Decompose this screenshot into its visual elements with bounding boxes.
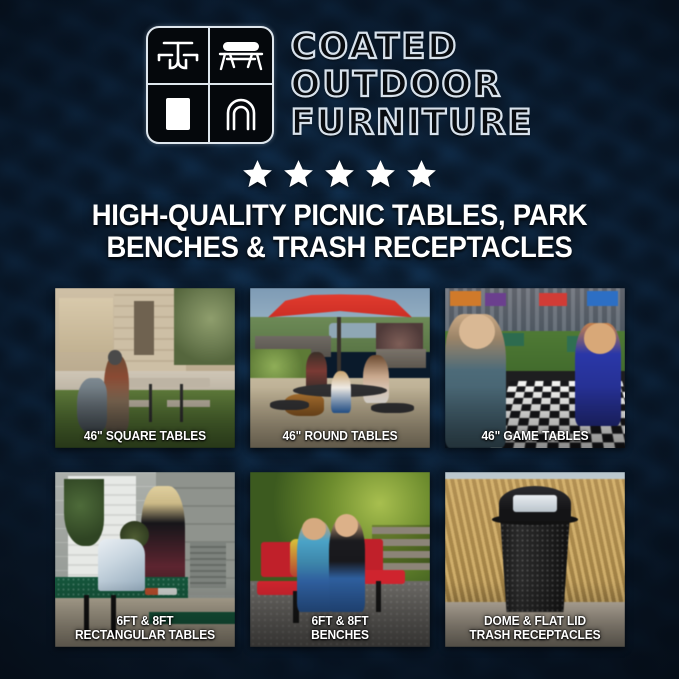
brand-word-outdoor: OUTDOOR [291, 68, 503, 104]
picnic-table-icon [148, 28, 210, 85]
gallery-caption: DOME & FLAT LID TRASH RECEPTACLES [450, 614, 621, 642]
gallery-caption: 46" GAME TABLES [450, 429, 621, 443]
gallery-tile-benches[interactable]: 6FT & 8FT BENCHES [250, 472, 430, 647]
headline-line-1: HIGH-QUALITY PICNIC TABLES, PARK [24, 200, 655, 232]
headline-line-2: BENCHES & TRASH RECEPTACLES [24, 232, 655, 264]
star-icon [282, 158, 315, 190]
caption-line-1: 46" ROUND TABLES [257, 429, 422, 443]
gallery-tile-rectangular-tables[interactable]: 6FT & 8FT RECTANGULAR TABLES [55, 472, 235, 647]
star-icon [405, 158, 438, 190]
caption-line-2: RECTANGULAR TABLES [62, 628, 227, 642]
caption-line-1: 6FT & 8FT [257, 614, 422, 628]
caption-line-2: BENCHES [257, 628, 422, 642]
headline: HIGH-QUALITY PICNIC TABLES, PARK BENCHES… [24, 200, 655, 264]
brand-word-furniture: FURNITURE [291, 106, 534, 142]
brand-word-coated: COATED [291, 30, 459, 66]
arch-bike-rack-icon [210, 85, 272, 142]
caption-line-1: 46" SQUARE TABLES [62, 429, 227, 443]
gallery-caption: 46" SQUARE TABLES [60, 429, 231, 443]
poster-content: COATED OUTDOOR FURNITURE HIGH-QUALITY PI… [0, 0, 679, 679]
star-icon [364, 158, 397, 190]
product-gallery: 46" SQUARE TABLES [55, 288, 625, 647]
caption-line-1: 46" GAME TABLES [452, 429, 617, 443]
bench-icon [210, 28, 272, 85]
star-icon [241, 158, 274, 190]
gallery-tile-game-tables[interactable]: 46" GAME TABLES [445, 288, 625, 448]
caption-line-2: TRASH RECEPTACLES [452, 628, 617, 642]
brand-logo: COATED OUTDOOR FURNITURE [0, 26, 679, 144]
promotional-poster: COATED OUTDOOR FURNITURE HIGH-QUALITY PI… [0, 0, 679, 679]
caption-line-1: 6FT & 8FT [62, 614, 227, 628]
gallery-caption: 46" ROUND TABLES [255, 429, 426, 443]
gallery-caption: 6FT & 8FT RECTANGULAR TABLES [60, 614, 231, 642]
brand-wordmark: COATED OUTDOOR FURNITURE [291, 28, 534, 141]
gallery-caption: 6FT & 8FT BENCHES [255, 614, 426, 642]
gallery-tile-trash-receptacles[interactable]: DOME & FLAT LID TRASH RECEPTACLES [445, 472, 625, 647]
gallery-tile-square-tables[interactable]: 46" SQUARE TABLES [55, 288, 235, 448]
gallery-tile-round-tables[interactable]: 46" ROUND TABLES [250, 288, 430, 448]
star-rating [0, 158, 679, 190]
caption-line-1: DOME & FLAT LID [452, 614, 617, 628]
trash-receptacle-icon [148, 85, 210, 142]
logo-mark-icon [146, 26, 274, 144]
star-icon [323, 158, 356, 190]
